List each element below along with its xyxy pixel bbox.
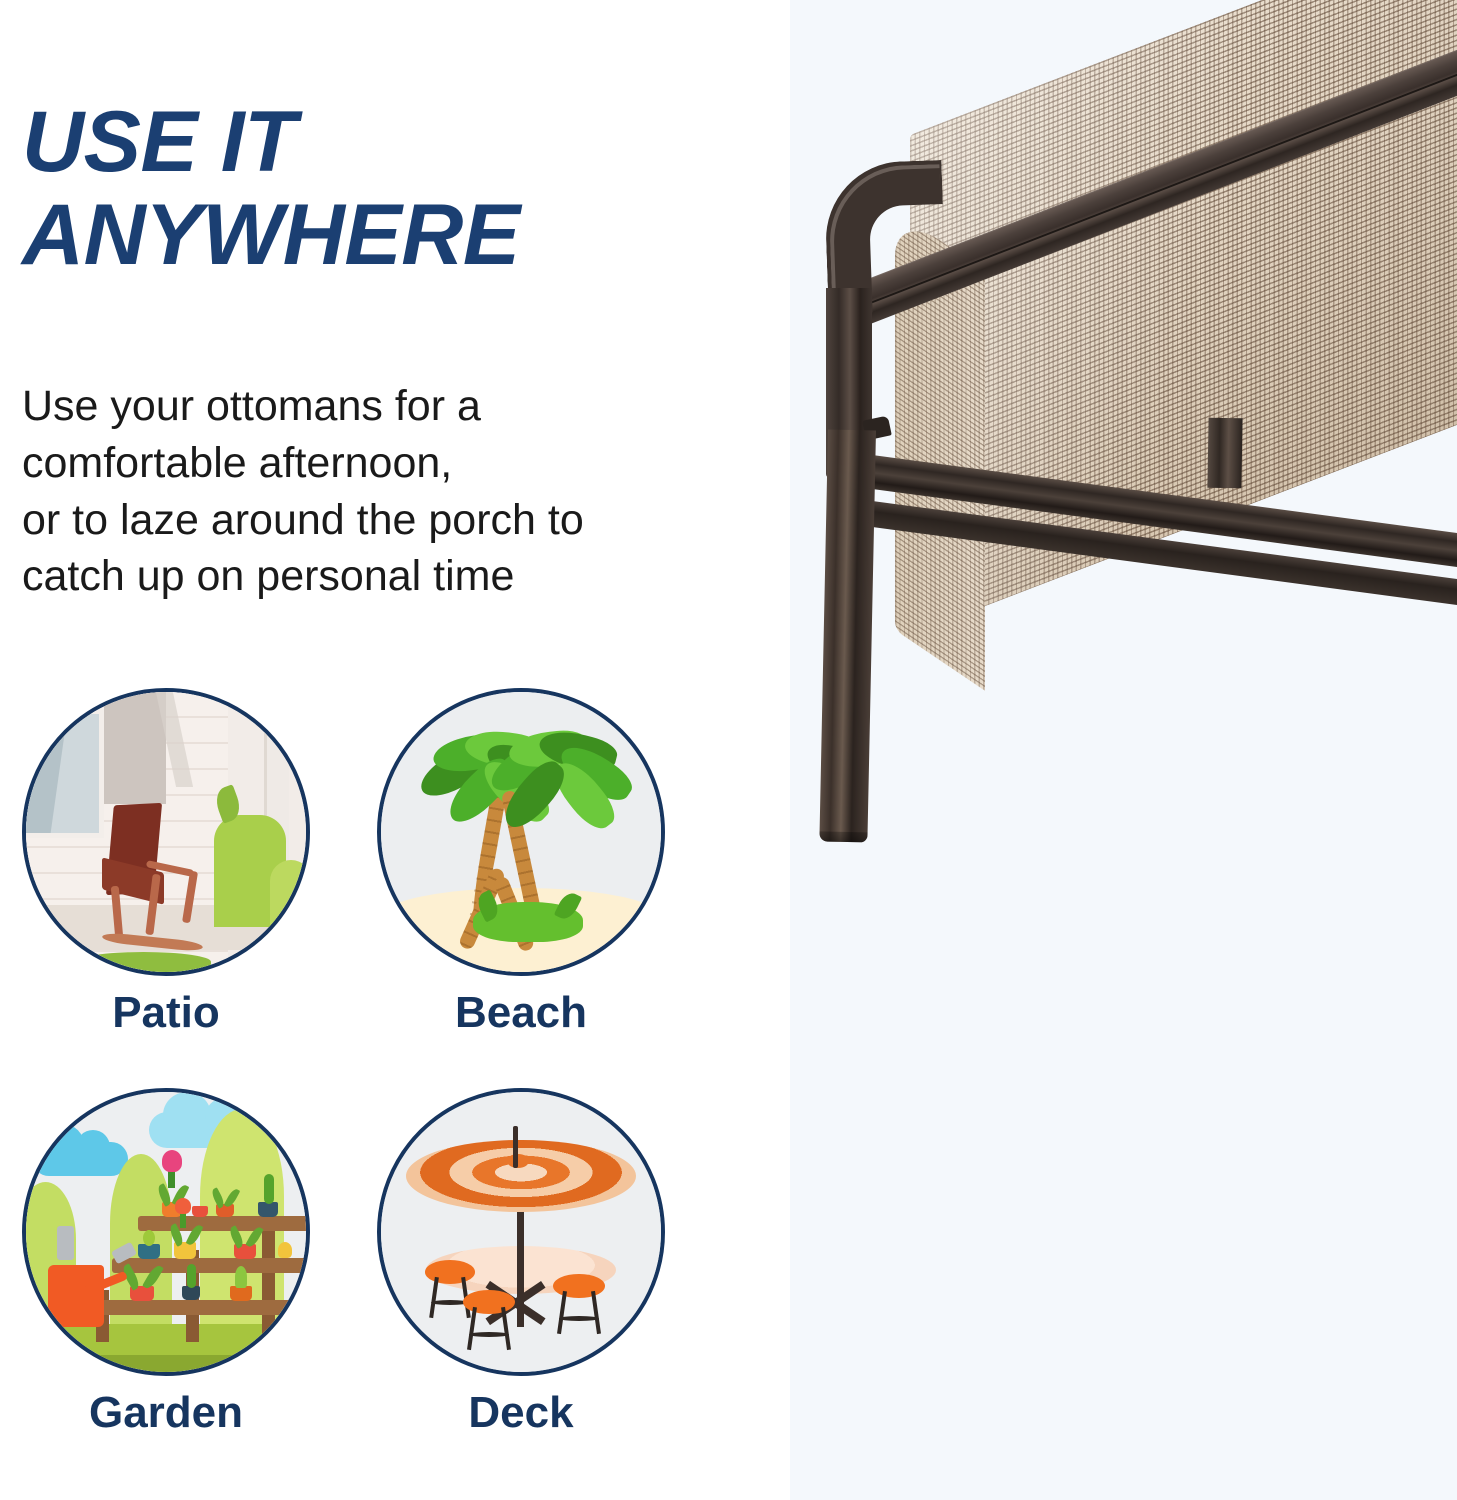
use-case-grid: Patio bbox=[22, 688, 682, 1488]
use-case-label-beach: Beach bbox=[377, 988, 665, 1038]
page-title: USE IT ANYWHERE bbox=[22, 96, 742, 282]
use-case-patio: Patio bbox=[22, 688, 322, 1088]
marketing-infographic: USE IT ANYWHERE Use your ottomans for a … bbox=[0, 0, 1457, 1500]
patio-icon-circle bbox=[22, 688, 310, 976]
description-text: Use your ottomans for a comfortable afte… bbox=[22, 378, 764, 605]
porch-rocking-chair-icon bbox=[26, 692, 306, 972]
use-case-deck: Deck bbox=[377, 1088, 677, 1488]
frame-front-leg bbox=[819, 429, 876, 842]
use-case-label-patio: Patio bbox=[22, 988, 310, 1038]
use-case-label-garden: Garden bbox=[22, 1388, 310, 1438]
patio-ottoman-photo bbox=[790, 0, 1457, 1500]
garden-icon-circle bbox=[22, 1088, 310, 1376]
plant-shelf-watering-can-icon bbox=[26, 1092, 306, 1372]
deck-icon-circle bbox=[377, 1088, 665, 1376]
beach-icon-circle bbox=[377, 688, 665, 976]
product-photo-panel bbox=[790, 0, 1457, 1500]
use-case-beach: Beach bbox=[377, 688, 677, 1088]
use-case-label-deck: Deck bbox=[377, 1388, 665, 1438]
left-content-panel: USE IT ANYWHERE Use your ottomans for a … bbox=[0, 0, 790, 1500]
palm-trees-icon bbox=[381, 692, 661, 972]
frame-rear-support bbox=[1207, 418, 1242, 489]
patio-umbrella-table-stools-icon bbox=[381, 1092, 661, 1372]
use-case-garden: Garden bbox=[22, 1088, 322, 1488]
